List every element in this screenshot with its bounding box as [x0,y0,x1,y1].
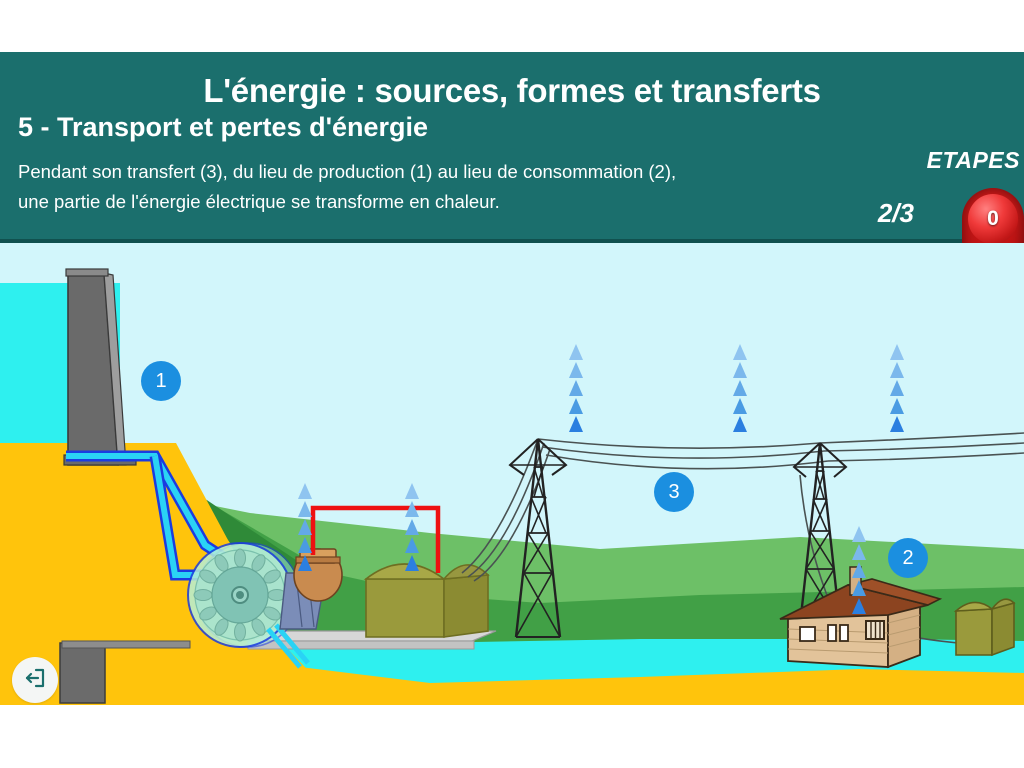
alternator [294,549,342,601]
step-counter: 2/3 [878,198,914,229]
callout-marker-2-label: 2 [902,547,913,570]
dam-crest [66,269,108,276]
exit-button[interactable] [12,657,58,703]
house-window-mid [828,625,836,641]
header-banner: L'énergie : sources, formes et transfert… [0,52,1024,243]
transformer-hut [956,599,1014,655]
dam-base-strip [62,641,190,648]
steps-label: ETAPES [927,147,1020,174]
dam-ledge [60,643,105,703]
turbine-hub-center [236,591,244,599]
house-window-mid2 [840,625,848,641]
page-subtitle: 5 - Transport et pertes d'énergie [18,112,428,143]
callout-marker-1[interactable]: 1 [141,361,181,401]
description-line-2: une partie de l'énergie électrique se tr… [18,187,898,217]
callout-marker-1-label: 1 [155,370,166,393]
step-lamp-0-label: 0 [987,207,999,231]
description-line-1: Pendant son transfert (3), du lieu de pr… [18,157,898,187]
page-title: L'énergie : sources, formes et transfert… [0,72,1024,110]
step-lamp-0[interactable]: 0 [968,194,1018,244]
simulation-scene [0,243,1024,705]
callout-marker-2[interactable]: 2 [888,538,928,578]
description-text: Pendant son transfert (3), du lieu de pr… [18,157,898,217]
exit-icon [22,665,48,696]
callout-marker-3[interactable]: 3 [654,472,694,512]
house-window-left [800,627,815,641]
application-root: L'énergie : sources, formes et transfert… [0,0,1024,768]
callout-marker-3-label: 3 [668,481,679,504]
